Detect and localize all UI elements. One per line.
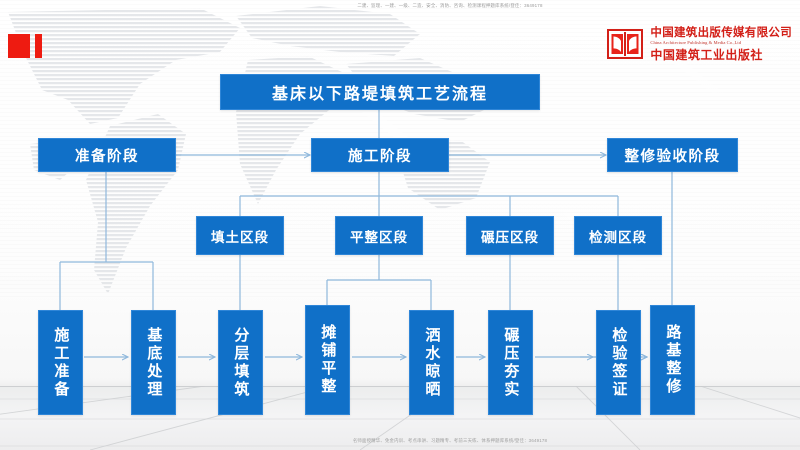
node-task-2[interactable]: 基底处理 bbox=[131, 310, 176, 415]
node-task-7[interactable]: 检验签证 bbox=[596, 310, 641, 415]
node-section-compact[interactable]: 碾压区段 bbox=[466, 216, 554, 255]
slide-canvas: 二建、监理、一建、一级、二造、安全、消防、咨询、检测课程押题库系统/登佳：364… bbox=[0, 0, 800, 450]
node-section-fill[interactable]: 填土区段 bbox=[196, 216, 284, 255]
node-task-1[interactable]: 施工准备 bbox=[38, 310, 83, 415]
node-task-5[interactable]: 洒水晾晒 bbox=[409, 310, 454, 415]
node-task-6[interactable]: 碾压夯实 bbox=[488, 310, 533, 415]
node-stage-construct[interactable]: 施工阶段 bbox=[311, 138, 449, 172]
node-root-title[interactable]: 基床以下路堤填筑工艺流程 bbox=[220, 74, 540, 110]
node-task-4[interactable]: 摊铺平整 bbox=[305, 305, 350, 415]
node-task-8[interactable]: 路基整修 bbox=[650, 305, 695, 415]
node-section-level[interactable]: 平整区段 bbox=[335, 216, 423, 255]
node-stage-prepare[interactable]: 准备阶段 bbox=[38, 138, 176, 172]
node-task-3[interactable]: 分层填筑 bbox=[218, 310, 263, 415]
node-section-test[interactable]: 检测区段 bbox=[574, 216, 662, 255]
node-stage-accept[interactable]: 整修验收阶段 bbox=[607, 138, 738, 172]
